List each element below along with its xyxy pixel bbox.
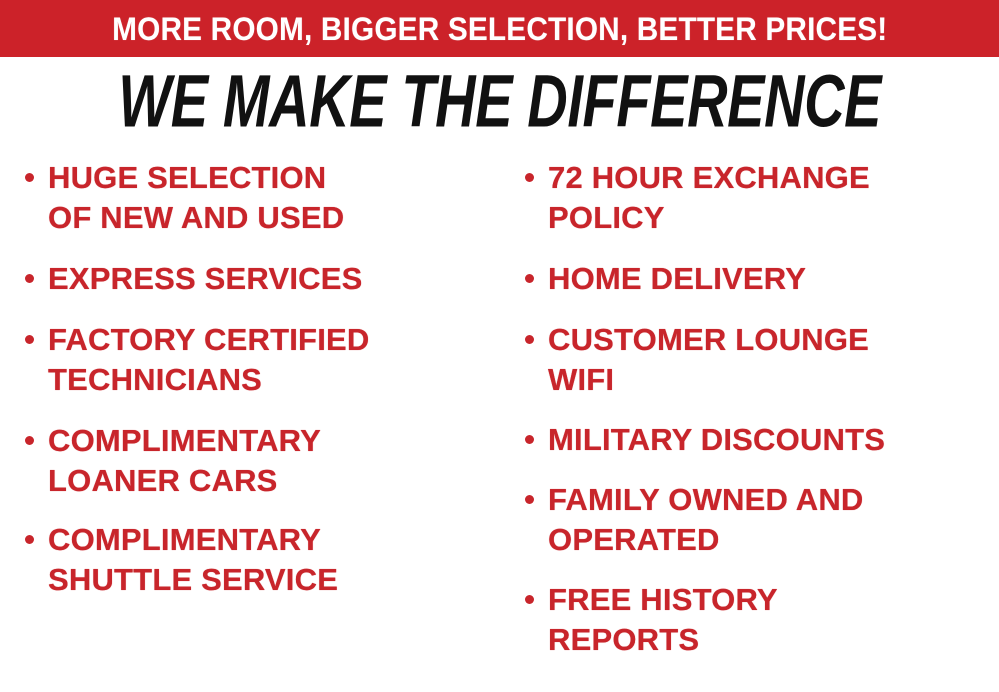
- list-item-label: HOME DELIVERY: [548, 259, 999, 299]
- bullet-dot-icon: [525, 495, 534, 504]
- benefits-column-left: HUGE SELECTION OF NEW AND USED EXPRESS S…: [14, 158, 494, 620]
- list-item: COMPLIMENTARY LOANER CARS: [14, 421, 494, 501]
- list-item: CUSTOMER LOUNGE WIFI: [514, 320, 999, 400]
- bullet-dot-icon: [25, 173, 34, 182]
- bullet-dot-icon: [525, 595, 534, 604]
- list-item-label: FACTORY CERTIFIED TECHNICIANS: [48, 320, 494, 400]
- bullet-dot-icon: [25, 274, 34, 283]
- list-item-label: FAMILY OWNED AND OPERATED: [548, 480, 999, 560]
- bullet-dot-icon: [25, 535, 34, 544]
- bullet-dot-icon: [525, 435, 534, 444]
- list-item: HUGE SELECTION OF NEW AND USED: [14, 158, 494, 238]
- list-item-label: 72 HOUR EXCHANGE POLICY: [548, 158, 999, 238]
- list-item: FREE HISTORY REPORTS: [514, 580, 999, 660]
- list-item: FAMILY OWNED AND OPERATED: [514, 480, 999, 560]
- bullet-dot-icon: [525, 173, 534, 182]
- page-title: WE MAKE THE DIFFERENCE: [118, 64, 881, 138]
- list-item: COMPLIMENTARY SHUTTLE SERVICE: [14, 520, 494, 600]
- list-item: MILITARY DISCOUNTS: [514, 420, 999, 460]
- list-item: 72 HOUR EXCHANGE POLICY: [514, 158, 999, 238]
- list-item: HOME DELIVERY: [514, 259, 999, 299]
- list-item-label: COMPLIMENTARY SHUTTLE SERVICE: [48, 520, 494, 600]
- list-item: EXPRESS SERVICES: [14, 259, 494, 299]
- bullet-dot-icon: [525, 274, 534, 283]
- promotional-poster: MORE ROOM, BIGGER SELECTION, BETTER PRIC…: [0, 0, 999, 692]
- list-item-label: MILITARY DISCOUNTS: [548, 420, 999, 460]
- benefits-column-right: 72 HOUR EXCHANGE POLICY HOME DELIVERY CU…: [514, 158, 999, 680]
- top-banner: MORE ROOM, BIGGER SELECTION, BETTER PRIC…: [0, 0, 999, 57]
- bullet-dot-icon: [525, 335, 534, 344]
- list-item-label: COMPLIMENTARY LOANER CARS: [48, 421, 494, 501]
- list-item-label: CUSTOMER LOUNGE WIFI: [548, 320, 999, 400]
- main-headline-container: WE MAKE THE DIFFERENCE: [0, 62, 999, 140]
- bullet-dot-icon: [25, 335, 34, 344]
- list-item: FACTORY CERTIFIED TECHNICIANS: [14, 320, 494, 400]
- list-item-label: FREE HISTORY REPORTS: [548, 580, 999, 660]
- list-item-label: HUGE SELECTION OF NEW AND USED: [48, 158, 494, 238]
- bullet-dot-icon: [25, 436, 34, 445]
- banner-headline-text: MORE ROOM, BIGGER SELECTION, BETTER PRIC…: [112, 13, 887, 45]
- benefits-columns: HUGE SELECTION OF NEW AND USED EXPRESS S…: [0, 158, 999, 692]
- list-item-label: EXPRESS SERVICES: [48, 259, 494, 299]
